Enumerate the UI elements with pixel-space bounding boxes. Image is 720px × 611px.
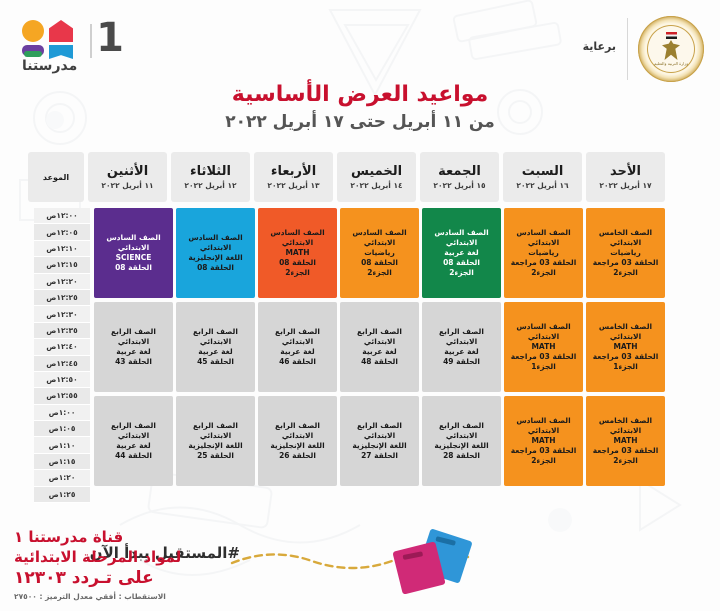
schedule-cell[interactable]: الصف السادس الابتدائيرياضياتالحلقة 03 مر… — [504, 208, 583, 298]
cell-line-l4: الجزء2 — [613, 268, 638, 278]
schedule-cell[interactable]: الصف الرابع الابتدائيلغة عربيةالحلقة 46 — [258, 302, 337, 392]
cell-line-l2: رياضيات — [364, 248, 395, 258]
cell-line-l2: اللغة الإنجليزية — [352, 441, 406, 451]
cell-line-l1: الصف الرابع الابتدائي — [260, 421, 335, 441]
schedule-cell[interactable]: الصف السادس الابتدائيرياضياتالحلقة 08الج… — [340, 208, 419, 298]
schedule-column-4: الصف السادس الابتدائيMATHالحلقة 08الجزء2… — [258, 208, 337, 503]
time-slot: ١٢:٤٠ص — [34, 339, 90, 355]
schedule-cell[interactable]: الصف الرابع الابتدائياللغة الإنجليزيةالح… — [176, 396, 255, 486]
ministry-seal-logo: وزارة التربية والتعليم — [638, 16, 704, 82]
cell-line-l3: الحلقة 26 — [279, 451, 316, 461]
schedule-column-1: الصف السادس الابتدائيرياضياتالحلقة 03 مر… — [504, 208, 583, 503]
time-column-header: الموعد — [28, 152, 84, 202]
cell-line-l2: MATH — [531, 436, 555, 446]
day-header-4: الأربعاء١٣ أبريل ٢٠٢٢ — [254, 152, 333, 202]
page-subtitle: من ١١ أبريل حتى ١٧ أبريل ٢٠٢٢ — [0, 112, 720, 132]
day-header-1: السبت١٦ أبريل ٢٠٢٢ — [503, 152, 582, 202]
cell-line-l2: لغة عربية — [280, 347, 314, 357]
cell-line-l2: لغة عربية — [116, 441, 150, 451]
cell-line-l4: الجزء2 — [285, 268, 310, 278]
cell-line-l3: الحلقة 08 — [443, 258, 480, 268]
schedule-table: الأحد١٧ أبريل ٢٠٢٢السبت١٦ أبريل ٢٠٢٢الجم… — [53, 152, 665, 503]
circle-icon — [22, 20, 44, 42]
day-header-0: الأحد١٧ أبريل ٢٠٢٢ — [586, 152, 665, 202]
day-date: ١٧ أبريل ٢٠٢٢ — [599, 181, 651, 190]
bookmark-icon — [49, 45, 73, 59]
cell-line-l3: الحلقة 08 — [197, 263, 234, 273]
cell-line-l2: لغة عربية — [116, 347, 150, 357]
cell-line-l2: MATH — [613, 342, 637, 352]
cell-line-l2: MATH — [531, 342, 555, 352]
time-slot: ١:٢٥ص — [34, 487, 90, 503]
day-name: الخميس — [351, 164, 402, 179]
time-slot: ١٢:٠٠ص — [34, 208, 90, 224]
house-icon — [49, 20, 73, 42]
schedule-cell[interactable]: الصف الخامس الابتدائيMATHالحلقة 03 مراجع… — [586, 302, 665, 392]
cell-line-l2: MATH — [613, 436, 637, 446]
day-date: ١١ أبريل ٢٠٢٢ — [101, 181, 153, 190]
channel-frequency-block: قناة مدرستنا ١ لمواد المرحلة الابتدائية … — [14, 528, 229, 601]
green-bar-icon — [24, 51, 42, 57]
cell-line-l1: الصف السادس الابتدائي — [342, 228, 417, 248]
brand-tiles — [22, 20, 74, 56]
time-column: ١٢:٠٠ص١٢:٠٥ص١٢:١٠ص١٢:١٥ص١٢:٢٠ص١٢:٢٥ص١٢:٣… — [34, 208, 90, 503]
cell-line-l2: اللغة الإنجليزية — [188, 441, 242, 451]
schedule-cell[interactable]: الصف السادس الابتدائيMATHالحلقة 08الجزء2 — [258, 208, 337, 298]
cell-line-l3: الحلقة 08 — [279, 258, 316, 268]
time-slot: ١٢:٢٥ص — [34, 290, 90, 306]
time-slot: ١٢:٥٠ص — [34, 372, 90, 388]
day-name: الجمعة — [438, 164, 481, 179]
cell-line-l4: الجزء1 — [613, 362, 638, 372]
time-slot: ١:٢٠ص — [34, 470, 90, 486]
cell-line-l2: لغة عربية — [444, 248, 478, 258]
cell-line-l3: الحلقة 25 — [197, 451, 234, 461]
channel-number: 1 — [96, 18, 124, 58]
cell-line-l1: الصف الرابع الابتدائي — [424, 421, 499, 441]
time-slot: ١٢:٠٥ص — [34, 224, 90, 240]
cell-line-l3: الحلقة 03 مراجعة — [511, 352, 577, 362]
channel-name: قناة مدرستنا ١ — [14, 528, 229, 546]
cell-line-l4: الجزء2 — [367, 268, 392, 278]
cell-line-l1: الصف الرابع الابتدائي — [178, 421, 253, 441]
schedule-column-2: الصف السادس الابتدائيلغة عربيةالحلقة 08ا… — [422, 208, 501, 503]
cell-line-l1: الصف السادس الابتدائي — [178, 233, 253, 253]
cell-line-l3: الحلقة 28 — [443, 451, 480, 461]
schedule-cell[interactable]: الصف الرابع الابتدائيلغة عربيةالحلقة 44 — [94, 396, 173, 486]
day-header-5: الثلاثاء١٢ أبريل ٢٠٢٢ — [171, 152, 250, 202]
cell-line-l3: الحلقة 03 مراجعة — [593, 352, 659, 362]
day-name: الأحد — [610, 164, 641, 179]
day-header-3: الخميس١٤ أبريل ٢٠٢٢ — [337, 152, 416, 202]
cell-line-l2: لغة عربية — [198, 347, 232, 357]
cell-line-l4: الجزء2 — [531, 456, 556, 466]
egypt-flag-icon — [666, 32, 677, 39]
infographic-page: وزارة التربية والتعليم برعاية 1 مدرستنا … — [0, 0, 720, 611]
table-header-row: الأحد١٧ أبريل ٢٠٢٢السبت١٦ أبريل ٢٠٢٢الجم… — [53, 152, 665, 202]
schedule-cell[interactable]: الصف السادس الابتدائيSCIENCEالحلقة 08 — [94, 208, 173, 298]
channel-tech-details: الاستقطاب : أفقي معدل الترميز : ٢٧٥٠٠ — [14, 592, 229, 601]
cell-line-l3: الحلقة 27 — [361, 451, 398, 461]
cell-line-l3: الحلقة 45 — [197, 357, 234, 367]
time-slot: ١:١٥ص — [34, 454, 90, 470]
time-slot: ١٢:١٠ص — [34, 241, 90, 257]
channel-description: لمواد المرحلة الابتدائية — [14, 548, 229, 566]
brand-name: مدرستنا — [22, 58, 77, 74]
cell-line-l1: الصف الرابع الابتدائي — [96, 421, 171, 441]
channel-frequency: على تـردد ١٢٣٠٣ — [14, 568, 229, 588]
cell-line-l3: الحلقة 08 — [361, 258, 398, 268]
day-date: ١٣ أبريل ٢٠٢٢ — [267, 181, 319, 190]
schedule-cell[interactable]: الصف السادس الابتدائيMATHالحلقة 03 مراجع… — [504, 302, 583, 392]
cell-line-l2: SCIENCE — [116, 253, 152, 263]
day-date: ١٤ أبريل ٢٠٢٢ — [350, 181, 402, 190]
time-slot: ١٢:٤٥ص — [34, 356, 90, 372]
time-slot: ١:٠٠ص — [34, 405, 90, 421]
time-slot: ١٢:٣٠ص — [34, 306, 90, 322]
cell-line-l1: الصف السادس الابتدائي — [260, 228, 335, 248]
schedule-cell[interactable]: الصف الخامس الابتدائيMATHالحلقة 03 مراجع… — [586, 396, 665, 486]
cell-line-l4: الجزء2 — [531, 268, 556, 278]
time-slot: ١٢:٥٥ص — [34, 388, 90, 404]
cell-line-l1: الصف السادس الابتدائي — [506, 322, 581, 342]
cell-line-l2: MATH — [285, 248, 309, 258]
schedule-cell[interactable]: الصف الرابع الابتدائيلغة عربيةالحلقة 48 — [340, 302, 419, 392]
eagle-icon — [662, 40, 680, 60]
cell-line-l2: لغة عربية — [362, 347, 396, 357]
cell-line-l1: الصف الرابع الابتدائي — [342, 421, 417, 441]
cell-line-l1: الصف الخامس الابتدائي — [588, 228, 663, 248]
time-header-label: الموعد — [43, 173, 69, 182]
day-columns: الصف الخامس الابتدائيرياضياتالحلقة 03 مر… — [94, 208, 665, 503]
day-date: ١٥ أبريل ٢٠٢٢ — [433, 181, 485, 190]
schedule-cell[interactable]: الصف الرابع الابتدائيلغة عربيةالحلقة 49 — [422, 302, 501, 392]
cell-line-l4: الجزء2 — [449, 268, 474, 278]
schedule-column-6: الصف السادس الابتدائيSCIENCEالحلقة 08الص… — [94, 208, 173, 503]
cell-line-l4: الجزء2 — [613, 456, 638, 466]
day-header-6: الأثنين١١ أبريل ٢٠٢٢ — [88, 152, 167, 202]
day-date: ١٦ أبريل ٢٠٢٢ — [516, 181, 568, 190]
schedule-cell[interactable]: الصف الرابع الابتدائياللغة الإنجليزيةالح… — [340, 396, 419, 486]
time-slot: ١٢:٣٥ص — [34, 323, 90, 339]
cell-line-l1: الصف السادس الابتدائي — [424, 228, 499, 248]
schedule-column-3: الصف السادس الابتدائيرياضياتالحلقة 08الج… — [340, 208, 419, 503]
day-name: الأثنين — [107, 164, 148, 179]
cell-line-l1: الصف الرابع الابتدائي — [178, 327, 253, 347]
cell-line-l3: الحلقة 46 — [279, 357, 316, 367]
page-header: وزارة التربية والتعليم برعاية 1 مدرستنا — [0, 0, 720, 78]
cell-line-l1: الصف السادس الابتدائي — [506, 416, 581, 436]
time-slot: ١:١٠ص — [34, 437, 90, 453]
cell-line-l1: الصف السادس الابتدائي — [506, 228, 581, 248]
seal-label: وزارة التربية والتعليم — [654, 61, 688, 66]
header-divider — [627, 18, 628, 80]
cell-line-l1: الصف الرابع الابتدائي — [342, 327, 417, 347]
books-illustration — [393, 530, 477, 594]
time-slot: ١٢:١٥ص — [34, 257, 90, 273]
cell-line-l3: الحلقة 49 — [443, 357, 480, 367]
sponsor-label: برعاية — [583, 40, 616, 53]
cell-line-l1: الصف الخامس الابتدائي — [588, 322, 663, 342]
cell-line-l2: اللغة الإنجليزية — [270, 441, 324, 451]
day-name: السبت — [522, 164, 564, 179]
cell-line-l3: الحلقة 03 مراجعة — [593, 446, 659, 456]
cell-line-l2: رياضيات — [528, 248, 559, 258]
cell-line-l3: الحلقة 03 مراجعة — [593, 258, 659, 268]
time-slot: ١:٠٥ص — [34, 421, 90, 437]
day-name: الثلاثاء — [190, 164, 231, 179]
table-body: الصف الخامس الابتدائيرياضياتالحلقة 03 مر… — [53, 208, 665, 503]
cell-line-l3: الحلقة 48 — [361, 357, 398, 367]
day-date: ١٢ أبريل ٢٠٢٢ — [184, 181, 236, 190]
cell-line-l2: اللغة الإنجليزية — [434, 441, 488, 451]
schedule-cell[interactable]: الصف الرابع الابتدائيلغة عربيةالحلقة 45 — [176, 302, 255, 392]
channel-brand-logo: 1 مدرستنا — [14, 12, 124, 78]
schedule-cell[interactable]: الصف السادس الابتدائيMATHالحلقة 03 مراجع… — [504, 396, 583, 486]
cell-line-l1: الصف الرابع الابتدائي — [424, 327, 499, 347]
cell-line-l3: الحلقة 43 — [115, 357, 152, 367]
cell-line-l4: الجزء1 — [531, 362, 556, 372]
cell-line-l3: الحلقة 03 مراجعة — [511, 258, 577, 268]
seal-inner: وزارة التربية والتعليم — [647, 25, 695, 73]
day-header-2: الجمعة١٥ أبريل ٢٠٢٢ — [420, 152, 499, 202]
page-footer: #المستقبل يبدأ الآن قناة مدرستنا ١ لمواد… — [0, 516, 720, 611]
cell-line-l1: الصف الخامس الابتدائي — [588, 416, 663, 436]
schedule-column-5: الصف السادس الابتدائياللغة الإنجليزيةالح… — [176, 208, 255, 503]
cell-line-l2: رياضيات — [610, 248, 641, 258]
cell-line-l2: اللغة الإنجليزية — [188, 253, 242, 263]
cell-line-l3: الحلقة 44 — [115, 451, 152, 461]
cell-line-l3: الحلقة 03 مراجعة — [511, 446, 577, 456]
cell-line-l3: الحلقة 08 — [115, 263, 152, 273]
schedule-cell[interactable]: الصف الرابع الابتدائياللغة الإنجليزيةالح… — [422, 396, 501, 486]
schedule-cell[interactable]: الصف الرابع الابتدائيلغة عربيةالحلقة 43 — [94, 302, 173, 392]
day-name: الأربعاء — [271, 164, 316, 179]
brand-divider — [90, 24, 92, 58]
cell-line-l2: لغة عربية — [444, 347, 478, 357]
cell-line-l1: الصف السادس الابتدائي — [96, 233, 171, 253]
cell-line-l1: الصف الرابع الابتدائي — [260, 327, 335, 347]
schedule-column-0: الصف الخامس الابتدائيرياضياتالحلقة 03 مر… — [586, 208, 665, 503]
schedule-cell[interactable]: الصف السادس الابتدائيلغة عربيةالحلقة 08ا… — [422, 208, 501, 298]
page-title: مواعيد العرض الأساسية — [0, 82, 720, 107]
cell-line-l1: الصف الرابع الابتدائي — [96, 327, 171, 347]
schedule-cell[interactable]: الصف السادس الابتدائياللغة الإنجليزيةالح… — [176, 208, 255, 298]
schedule-cell[interactable]: الصف الرابع الابتدائياللغة الإنجليزيةالح… — [258, 396, 337, 486]
title-block: مواعيد العرض الأساسية من ١١ أبريل حتى ١٧… — [0, 82, 720, 132]
schedule-cell[interactable]: الصف الخامس الابتدائيرياضياتالحلقة 03 مر… — [586, 208, 665, 298]
time-slot: ١٢:٢٠ص — [34, 274, 90, 290]
